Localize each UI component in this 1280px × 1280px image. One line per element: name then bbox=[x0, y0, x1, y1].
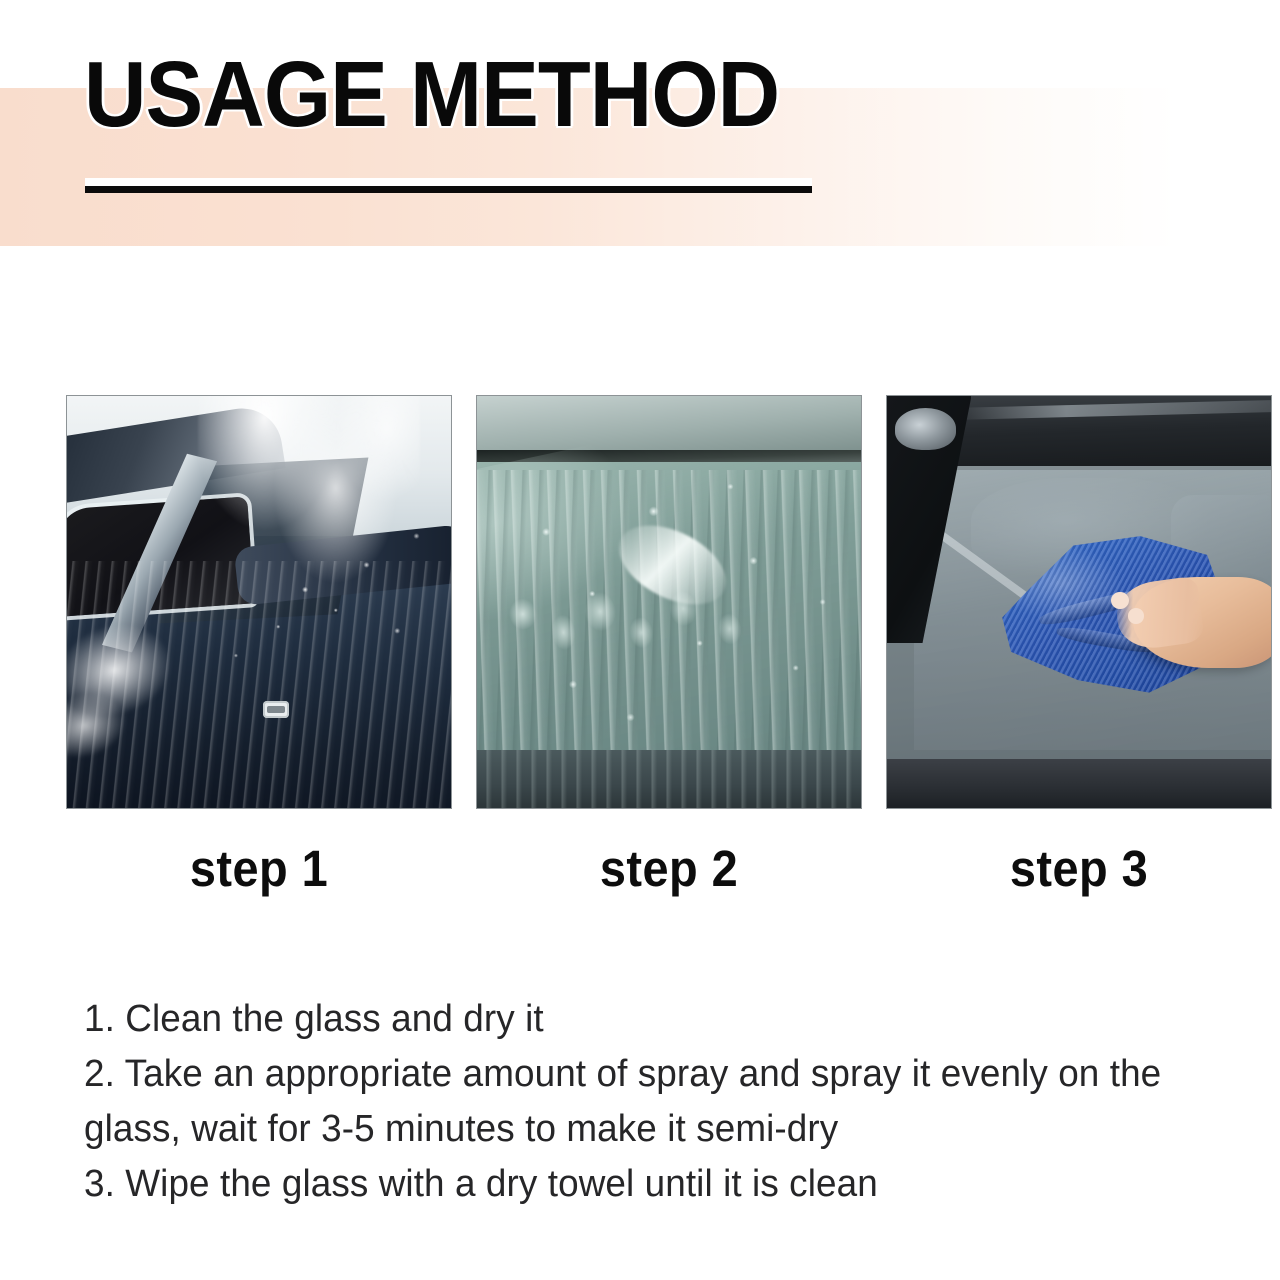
photo3-side-mirror bbox=[895, 408, 956, 449]
step-2-photo bbox=[476, 395, 862, 809]
photo3-fingertip-index bbox=[1111, 592, 1129, 609]
towel-wipe-image bbox=[887, 396, 1271, 808]
step-1-label: step 1 bbox=[81, 832, 436, 906]
photo1-water-droplets bbox=[67, 396, 451, 808]
step-labels-row: step 1 step 2 step 3 bbox=[66, 832, 1272, 906]
instruction-line-3: 3. Wipe the glass with a dry towel until… bbox=[84, 1157, 1234, 1212]
photo2-water-droplets bbox=[477, 396, 861, 808]
page-title: USAGE METHOD bbox=[84, 48, 779, 141]
photo3-cowl-panel bbox=[887, 759, 1271, 808]
instruction-line-1: 1. Clean the glass and dry it bbox=[84, 992, 1234, 1047]
step-1-photo bbox=[66, 395, 452, 809]
photo2-cowl-panel bbox=[477, 750, 861, 808]
instructions-list: 1. Clean the glass and dry it 2. Take an… bbox=[84, 992, 1270, 1212]
step-3-photo bbox=[886, 395, 1272, 809]
photo1-door-handle bbox=[263, 701, 289, 718]
instruction-line-2: 2. Take an appropriate amount of spray a… bbox=[84, 1047, 1234, 1157]
photo3-fingertip-middle bbox=[1128, 608, 1144, 624]
title-underline-rule bbox=[85, 178, 812, 193]
steps-photo-row bbox=[66, 395, 1272, 809]
car-wash-spray-image bbox=[67, 396, 451, 808]
step-2-label: step 2 bbox=[491, 832, 846, 906]
wet-windshield-image bbox=[477, 396, 861, 808]
step-3-label: step 3 bbox=[901, 832, 1256, 906]
